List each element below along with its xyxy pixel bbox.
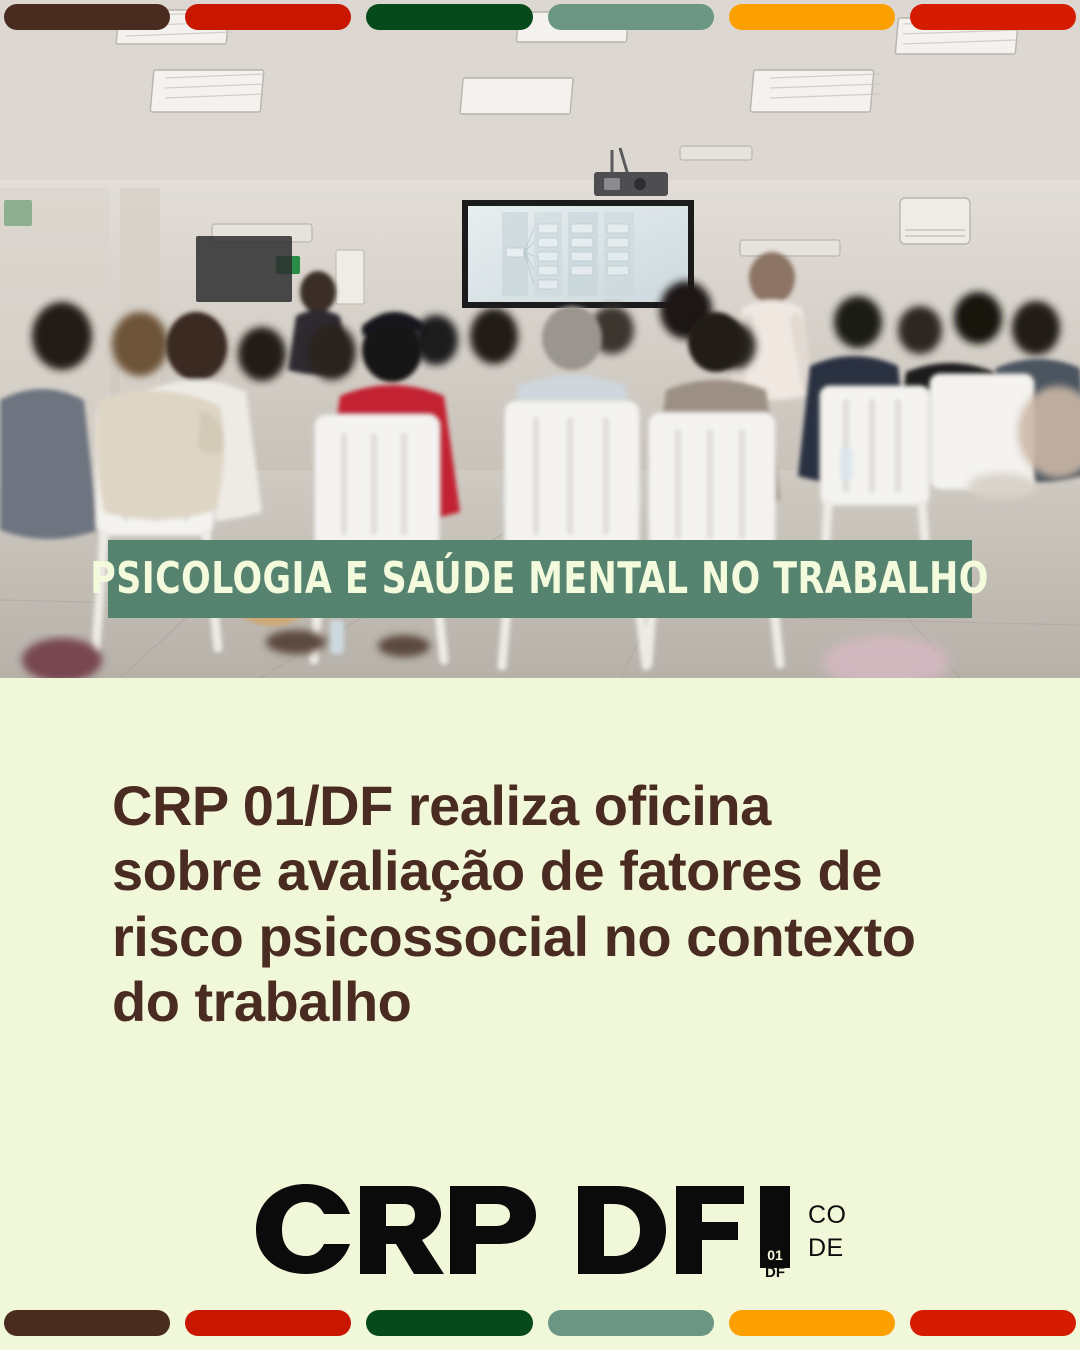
crp-df-logo: DF 01 CONSELHO REGIONAL DE PSICOLOGIA DO…	[248, 1178, 848, 1278]
logo-badge-label: DF	[765, 1264, 785, 1278]
stripe-segment-red-2	[910, 4, 1076, 30]
stripe-segment-orange	[729, 1310, 895, 1336]
stripe-segment-red-2	[910, 1310, 1076, 1336]
stripe-segment-orange	[729, 4, 895, 30]
stripe-segment-sage-green	[548, 1310, 714, 1336]
logo-badge-number: 01	[767, 1247, 783, 1263]
stripe-segment-red	[185, 1310, 351, 1336]
crp-df-logo-mark: DF 01 CONSELHO REGIONAL DE PSICOLOGIA DO…	[248, 1178, 848, 1278]
stripe-segment-brown	[4, 4, 170, 30]
bottom-color-stripe-bar	[0, 1306, 1080, 1340]
stripe-segment-brown	[4, 1310, 170, 1336]
stripe-segment-red	[185, 4, 351, 30]
top-color-stripe-bar	[0, 0, 1080, 34]
stripe-segment-dark-green	[366, 1310, 532, 1336]
category-banner: PSICOLOGIA E SAÚDE MENTAL NO TRABALHO	[108, 540, 972, 618]
logo-tagline-line-1: CONSELHO REGIONAL	[808, 1201, 848, 1229]
logo-tagline-line-2: DE PSICOLOGIA DO DF	[808, 1234, 848, 1262]
page-title: CRP 01/DF realiza oficina sobre avaliaçã…	[112, 773, 992, 1035]
stripe-segment-sage-green	[548, 4, 714, 30]
stripe-segment-dark-green	[366, 4, 532, 30]
social-media-poster: PSICOLOGIA E SAÚDE MENTAL NO TRABALHO CR…	[0, 0, 1080, 1350]
category-banner-label: PSICOLOGIA E SAÚDE MENTAL NO TRABALHO	[91, 557, 990, 601]
